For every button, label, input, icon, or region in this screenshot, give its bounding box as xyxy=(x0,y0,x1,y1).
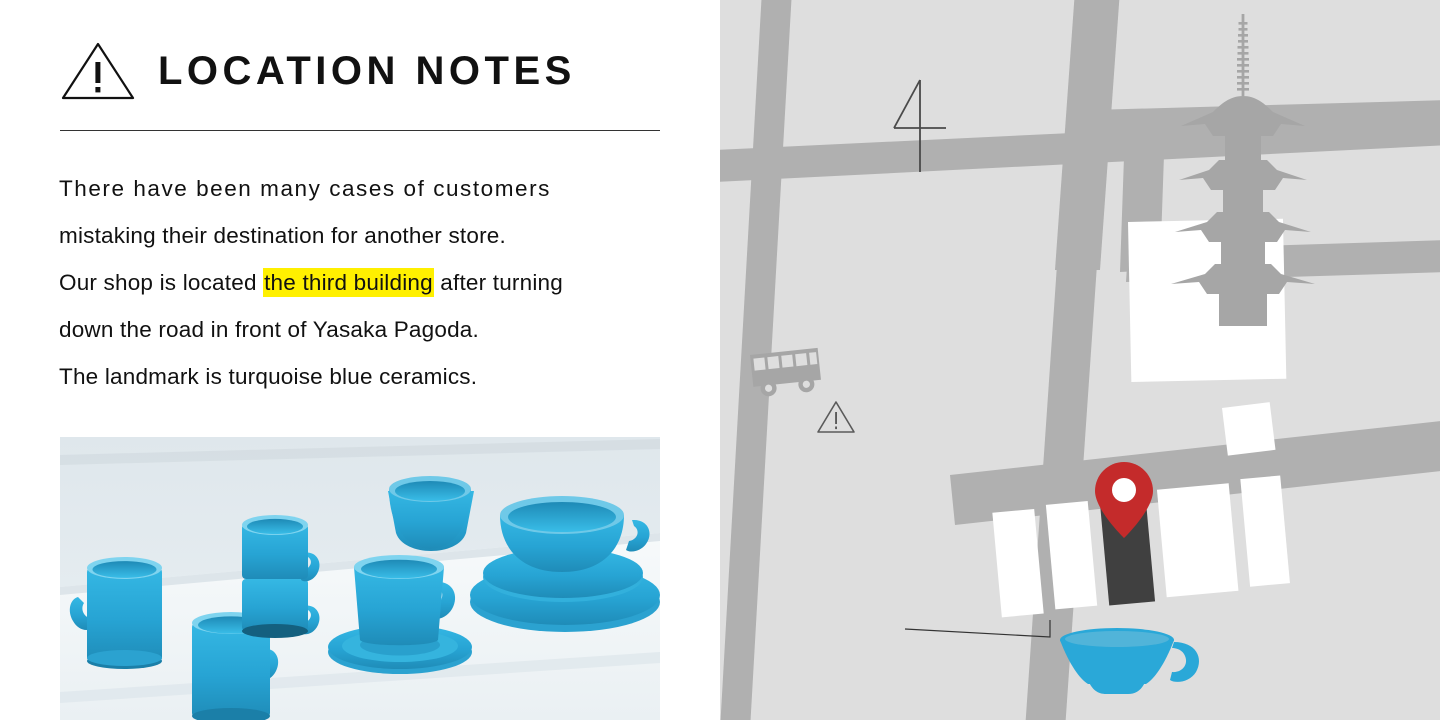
header-divider xyxy=(60,130,660,131)
location-map[interactable]: N ← Higashioji-Dori Yasaka-Dori Sannei-Z… xyxy=(720,0,1440,720)
notice-header: LOCATION NOTES xyxy=(60,40,576,102)
highlighted-phrase: the third building xyxy=(263,268,434,297)
notice-body: There have been many cases of customers … xyxy=(59,165,673,400)
notice-line-3-after: after turning xyxy=(434,270,563,295)
notice-line-3-before: Our shop is located xyxy=(59,270,263,295)
warning-triangle-icon xyxy=(60,40,136,102)
notice-line-5: The landmark is turquoise blue ceramics. xyxy=(59,353,673,400)
location-notes-page: LOCATION NOTES There have been many case… xyxy=(0,0,1440,720)
page-title: LOCATION NOTES xyxy=(158,51,576,91)
notice-line-2: mistaking their destination for another … xyxy=(59,212,673,259)
notice-line-4: down the road in front of Yasaka Pagoda. xyxy=(59,306,673,353)
notice-line-3: Our shop is located the third building a… xyxy=(59,259,673,306)
notice-panel: LOCATION NOTES There have been many case… xyxy=(0,0,720,720)
notice-line-1: There have been many cases of customers xyxy=(59,165,673,212)
ceramics-photo xyxy=(60,437,660,720)
